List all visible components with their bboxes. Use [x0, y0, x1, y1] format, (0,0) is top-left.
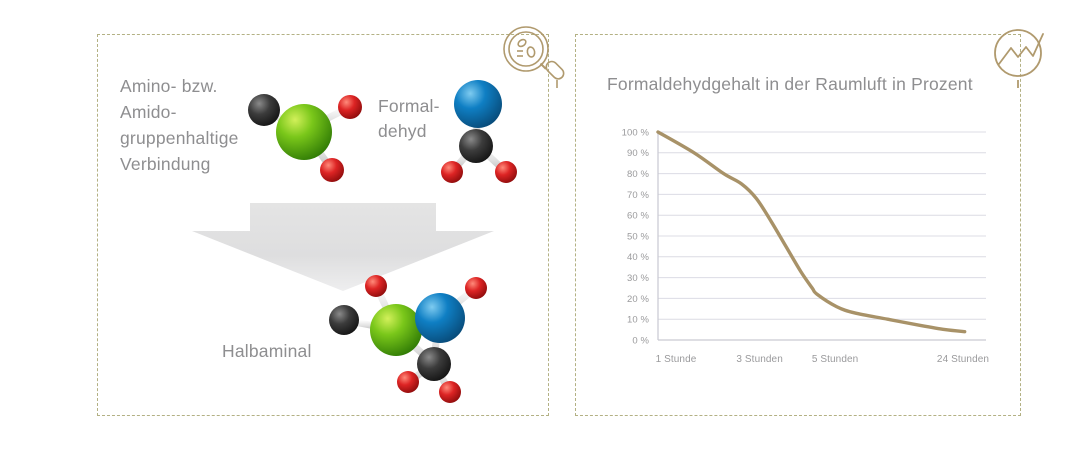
reactant-a-label: Amino- bzw. Amido- gruppenhaltige Verbin… — [120, 73, 239, 177]
x-axis-tick-label: 1 Stunde — [656, 354, 697, 365]
trend-line-circle-icon — [985, 20, 1059, 94]
x-axis-tick-label: 3 Stunden — [736, 354, 783, 365]
y-axis-tick-label: 80 % — [627, 169, 650, 180]
y-axis-tick-label: 0 % — [632, 335, 649, 346]
x-axis-tick-label: 24 Stunden — [937, 354, 989, 365]
x-axis-tick-label: 5 Stunden — [812, 354, 859, 365]
chart-line-series — [658, 132, 965, 332]
y-axis-tick-label: 60 % — [627, 211, 650, 222]
y-axis-tick-label: 90 % — [627, 148, 650, 159]
page-root: Amino- bzw. Amido- gruppenhaltige Verbin… — [0, 0, 1080, 462]
hemiaminal-molecule — [322, 272, 504, 408]
y-axis-tick-label: 40 % — [627, 252, 650, 263]
formaldehyde-molecule — [432, 68, 540, 192]
y-axis-tick-label: 20 % — [627, 294, 650, 305]
y-axis-tick-label: 30 % — [627, 273, 650, 284]
chart-title: Formaldehydgehalt in der Raumluft in Pro… — [607, 74, 973, 95]
line-chart: 100 %90 %80 %70 %60 %50 %40 %30 %20 %10 … — [600, 118, 1000, 378]
reactant-b-label: Formal- dehyd — [378, 94, 440, 144]
product-label: Halbaminal — [222, 338, 312, 364]
y-axis-tick-label: 100 % — [622, 127, 650, 138]
y-axis-tick-label: 70 % — [627, 190, 650, 201]
amino-compound-molecule — [238, 82, 374, 194]
y-axis-tick-label: 10 % — [627, 315, 650, 326]
y-axis-tick-label: 50 % — [627, 231, 650, 242]
